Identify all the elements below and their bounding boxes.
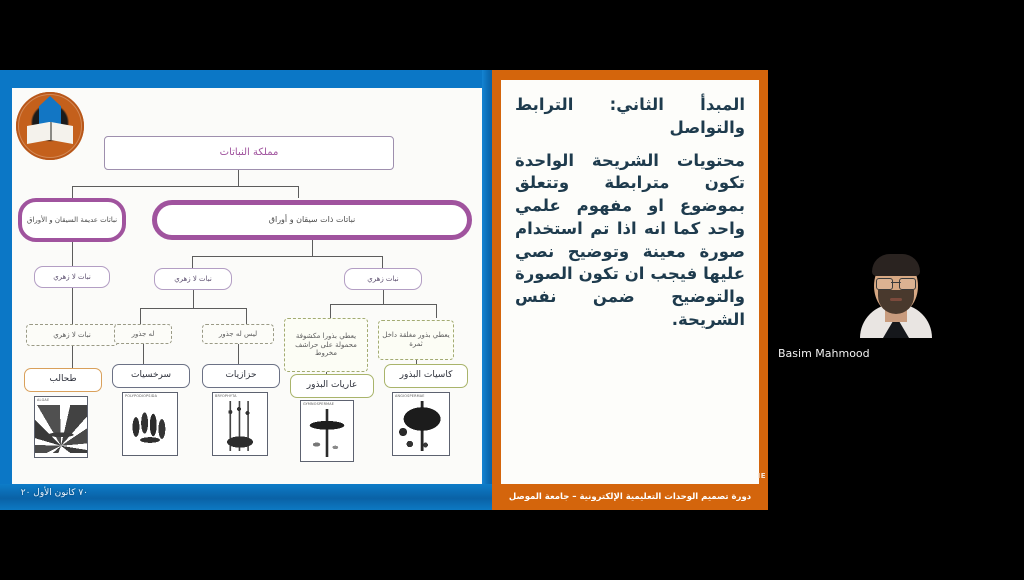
slide-text-card: المبدأ الثاني: الترابط والتواصل محتويات … (501, 80, 759, 484)
diagram-node-has-roots: له جذور (114, 324, 172, 344)
diagram-leaf-label-mosses: حزازيات (202, 364, 280, 388)
university-of-mosul-seal-icon (16, 92, 84, 160)
specimen-photo-mosses: BRYOPHYTA (212, 392, 268, 456)
connector (72, 288, 73, 324)
specimen-photo-ferns: POLYPODIOPSIDA (122, 392, 178, 456)
specimen-caption: BRYOPHYTA (215, 394, 237, 398)
diagram-node-flowering: نبات زهري (344, 268, 422, 290)
diagram-leaf-label-ferns: سرخسيات (112, 364, 190, 388)
connector (238, 170, 239, 186)
specimen-caption: ALGAE (37, 398, 49, 402)
slide-divider-band (482, 70, 492, 510)
avatar (860, 246, 932, 338)
diagram-leaf-label-gymnosperms: عاريات البذور (290, 374, 374, 398)
connector (192, 256, 193, 268)
connector (192, 256, 382, 257)
conifer-illustration-icon (301, 409, 353, 457)
specimen-caption: GYMNOSPERMAE (303, 402, 334, 406)
slide-left-panel: مملكة النباتات نباتات عديمة السيقان و ال… (0, 70, 492, 510)
slide-left-footer: ٧٠ كانون الأول ٢٠ (0, 484, 492, 510)
slide-left-band (0, 70, 12, 510)
connector (72, 186, 73, 198)
connector (330, 304, 436, 305)
diagram-node-nonflowering-dash: نبات لا زهري (26, 324, 118, 346)
diagram-node-naked-seeds: يعطي بذورا مكشوفة محمولة على حراشف مخروط (284, 318, 368, 372)
diagram-node-plants-with-stems-and-leaves: نباتات ذات سيقان و أوراق (152, 200, 472, 240)
specimen-caption: ANGIOSPERMAE (395, 394, 425, 398)
avatar-mouth (890, 298, 902, 301)
diagram-node-no-roots: ليس له جذور (202, 324, 274, 344)
glasses-icon (876, 278, 916, 288)
diagram-leaf-label-algae: طحالب (24, 368, 102, 392)
avatar-hair (872, 254, 920, 276)
meeting-stage: مملكة النباتات نباتات عديمة السيقان و ال… (0, 0, 1024, 580)
course-title-label: دورة تصميم الوحدات التعليمية الإلكترونية… (509, 492, 751, 502)
diagram-node-root: مملكة النباتات (104, 136, 394, 170)
specimen-photo-angiosperms: ANGIOSPERMAE (392, 392, 450, 456)
slide-right-panel: المبدأ الثاني: الترابط والتواصل محتويات … (492, 70, 768, 510)
connector (246, 308, 247, 324)
slide-date-label: ٧٠ كانون الأول ٢٠ (21, 488, 88, 498)
shared-screen-region[interactable]: مملكة النباتات نباتات عديمة السيقان و ال… (0, 70, 768, 510)
fern-illustration-icon (123, 401, 177, 451)
diagram-leaf-label-angiosperms: كاسيات البذور (384, 364, 468, 388)
connector (140, 308, 246, 309)
diagram-node-enclosed-seeds: يعطي بذور مغلقة داخل ثمرة (378, 320, 454, 360)
specimen-photo-gymnosperms: GYMNOSPERMAE (300, 400, 354, 462)
slide-corner-mark: IE (758, 472, 766, 480)
connector (383, 290, 384, 304)
participant-name-label: Basim Mahmood (778, 347, 870, 360)
presentation-slide: مملكة النباتات نباتات عديمة السيقان و ال… (0, 70, 768, 510)
slide-top-band (0, 70, 492, 88)
slide-heading: المبدأ الثاني: الترابط والتواصل (515, 94, 745, 140)
connector (382, 256, 383, 268)
diagram-canvas: مملكة النباتات نباتات عديمة السيقان و ال… (12, 88, 482, 484)
specimen-caption: POLYPODIOPSIDA (125, 394, 157, 398)
connector (72, 186, 298, 187)
moss-illustration-icon (213, 401, 267, 451)
diagram-node-nonflowering-middle: نبات لا زهري (154, 268, 232, 290)
participant-video-tile[interactable]: Basim Mahmood (768, 232, 1024, 376)
connector (330, 304, 331, 318)
slide-body-text: محتويات الشريحة الواحدة تكون مترابطة وتت… (515, 150, 745, 332)
connector (193, 290, 194, 308)
specimen-photo-algae: ALGAE (34, 396, 88, 458)
slide-right-footer: دورة تصميم الوحدات التعليمية الإلكترونية… (492, 484, 768, 510)
connector (72, 346, 73, 368)
connector (72, 242, 73, 266)
connector (436, 304, 437, 318)
diagram-node-nonflowering-left: نبات لا زهري (34, 266, 110, 288)
algae-illustration-icon (35, 405, 87, 453)
connector (298, 186, 299, 198)
connector (140, 308, 141, 324)
connector (312, 240, 313, 256)
broadleaf-tree-illustration-icon (393, 401, 449, 451)
diagram-node-stemless-plants: نباتات عديمة السيقان و الأوراق (18, 198, 126, 242)
